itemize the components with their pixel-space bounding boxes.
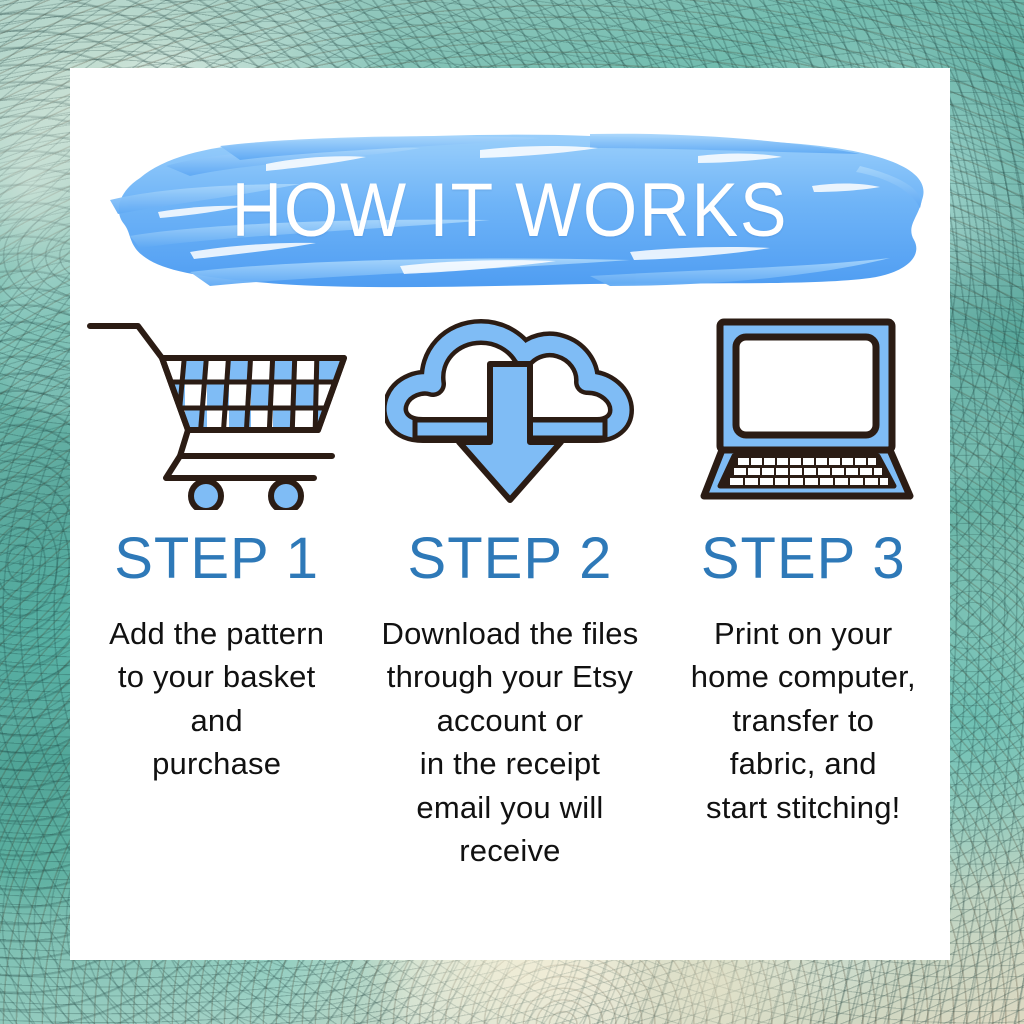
step-column-2: STEP 2 Download the files through your E…: [363, 304, 656, 872]
step-3-icon-box: [678, 304, 928, 516]
laptop-icon: [678, 310, 928, 510]
step-3-body: Print on your home computer, transfer to…: [691, 612, 916, 829]
cloud-download-icon: [385, 308, 635, 513]
how-it-works-card: HOW IT WORKS: [70, 68, 950, 960]
step-1-icon-box: [82, 304, 352, 516]
step-1-body: Add the pattern to your basket and purch…: [109, 612, 324, 786]
step-1-label: STEP 1: [114, 530, 319, 588]
step-column-1: STEP 1 Add the pattern to your basket an…: [70, 304, 363, 872]
shopping-cart-icon: [82, 310, 352, 510]
step-2-icon-box: [385, 304, 635, 516]
page-title: HOW IT WORKS: [105, 126, 915, 294]
step-2-body: Download the files through your Etsy acc…: [381, 612, 638, 872]
steps-row: STEP 1 Add the pattern to your basket an…: [70, 304, 950, 872]
infographic-canvas: HOW IT WORKS: [0, 0, 1024, 1024]
step-2-label: STEP 2: [408, 530, 613, 588]
title-banner: HOW IT WORKS: [70, 126, 950, 294]
step-3-label: STEP 3: [701, 530, 906, 588]
step-column-3: STEP 3 Print on your home computer, tran…: [657, 304, 950, 872]
